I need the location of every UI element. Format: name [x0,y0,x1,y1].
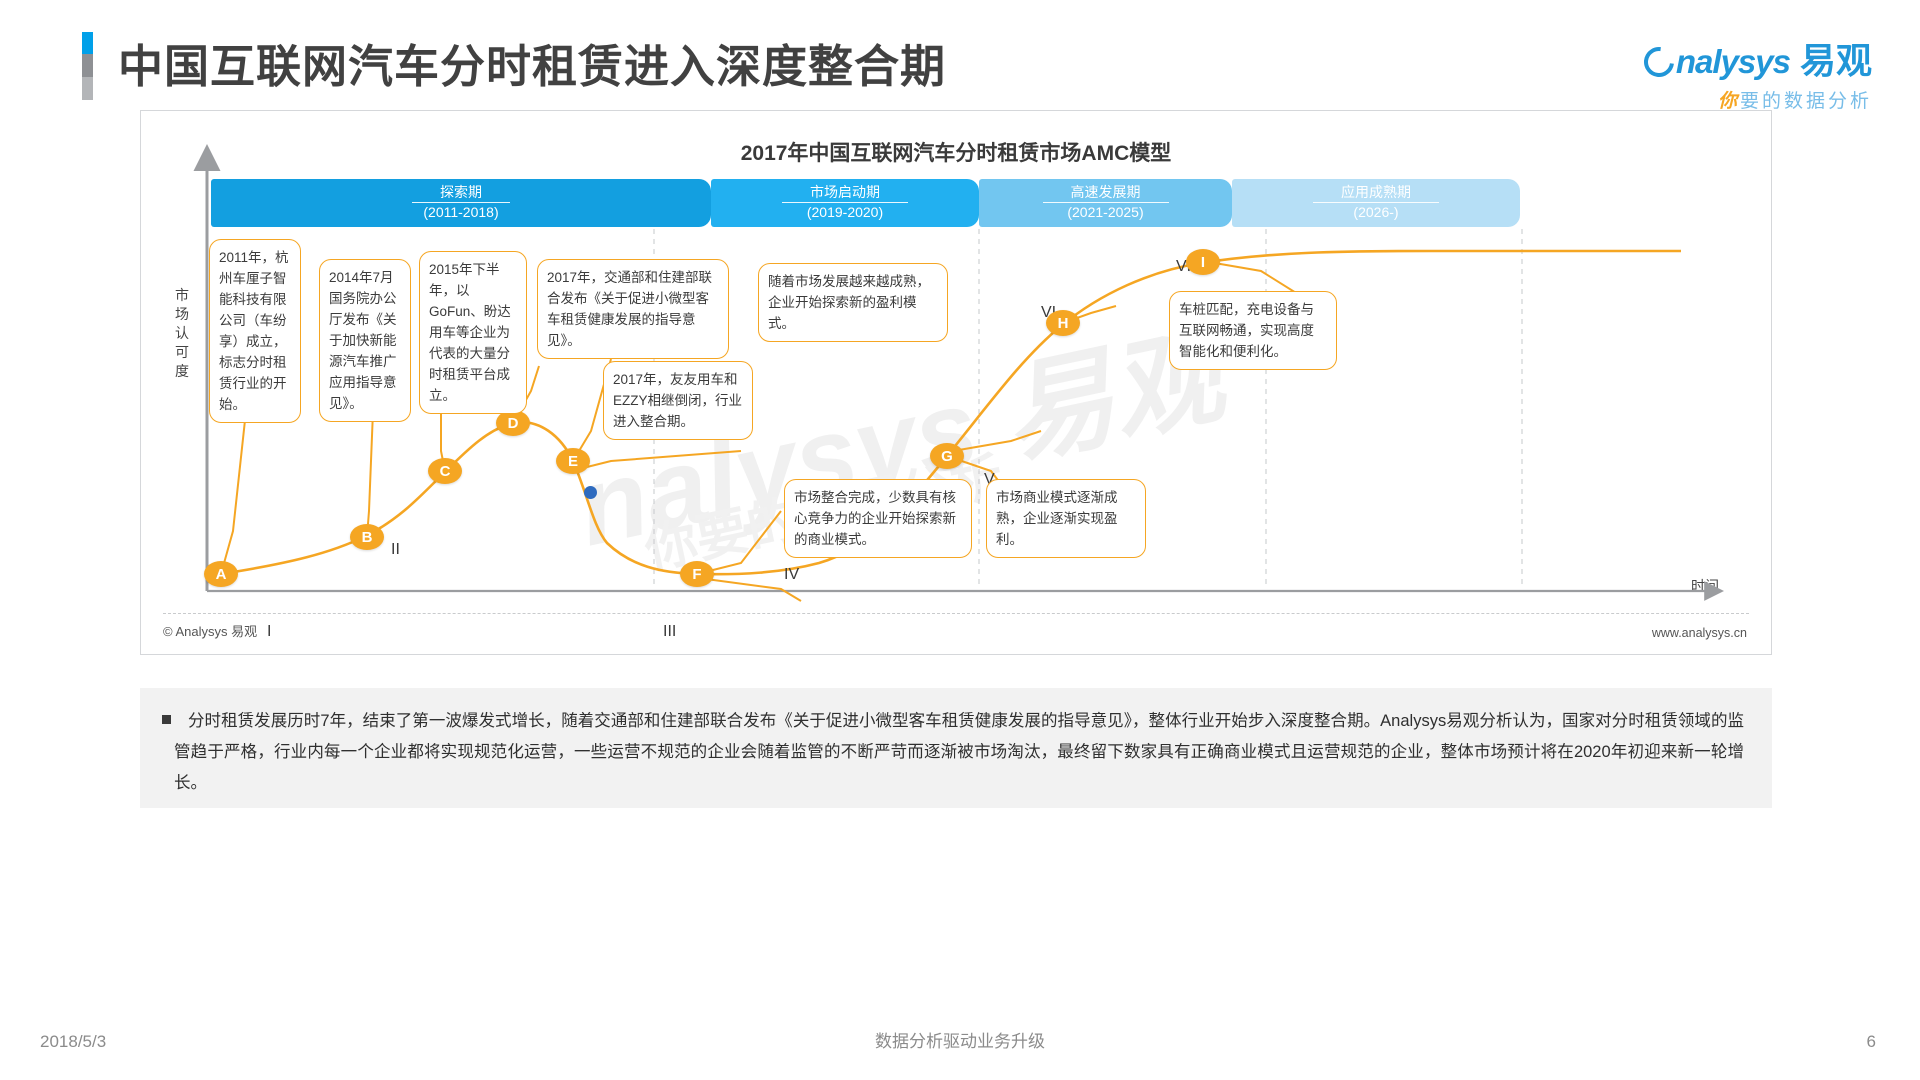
node-E[interactable]: E [556,448,590,474]
segment-label-III: III [663,623,676,641]
footer-center-text: 数据分析驱动业务升级 [0,1027,1920,1052]
logo-tagline-rest: 要的数据分析 [1740,91,1872,112]
logo-tagline: 你要的数据分析 [1644,86,1872,113]
callout-I: 车桩匹配，充电设备与互联网畅通，实现高度智能化和便利化。 [1169,291,1337,370]
page-title: 中国互联网汽车分时租赁进入深度整合期 [118,30,946,95]
logo-circle-icon [1638,41,1680,83]
summary-box: 分时租赁发展历时7年，结束了第一波爆发式增长，随着交通部和住建部联合发布《关于促… [140,688,1772,808]
callout-D: 2017年，交通部和住建部联合发布《关于促进小微型客车租赁健康发展的指导意见》。 [537,259,729,359]
callout-E: 2017年，友友用车和EZZY相继倒闭，行业进入整合期。 [603,361,753,440]
node-F[interactable]: F [680,561,714,587]
analysys-logo: nalysys 易观 你要的数据分析 [1644,32,1872,113]
callout-H: 随着市场发展越来越成熟，企业开始探索新的盈利模式。 [758,263,948,342]
segment-label-II: II [391,541,400,559]
segment-label-IV: IV [784,566,799,584]
footer-page-number: 6 [1867,1032,1876,1052]
summary-text: 分时租赁发展历时7年，结束了第一波爆发式增长，随着交通部和住建部联合发布《关于促… [174,706,1744,799]
logo-english: nalysys [1676,43,1790,81]
node-I[interactable]: I [1186,249,1220,275]
node-B[interactable]: B [350,524,384,550]
segment-label-I: I [267,623,271,641]
summary-bullet-icon [162,715,171,724]
callout-F: 市场整合完成，少数具有核心竞争力的企业开始探索新的商业模式。 [784,479,972,558]
callout-A: 2011年，杭州车厘子智能科技有限公司（车纷享）成立，标志分时租赁行业的开始。 [209,239,301,423]
chart-panel: 2017年中国互联网汽车分时租赁市场AMC模型 nalysys 易观 你要的数据… [140,110,1772,655]
node-C[interactable]: C [428,458,462,484]
logo-chinese: 易观 [1800,32,1872,84]
callout-G: 市场商业模式逐渐成熟，企业逐渐实现盈利。 [986,479,1146,558]
callout-C: 2015年下半年，以GoFun、盼达用车等企业为代表的大量分时租赁平台成立。 [419,251,527,414]
current-position-dot [584,486,597,499]
node-H[interactable]: H [1046,310,1080,336]
node-A[interactable]: A [204,561,238,587]
node-G[interactable]: G [930,443,964,469]
callout-B: 2014年7月 国务院办公厅发布《关于加快新能源汽车推广应用指导意见》。 [319,259,411,422]
slide-root: 中国互联网汽车分时租赁进入深度整合期 nalysys 易观 你要的数据分析 20… [0,0,1920,1080]
title-accent-bar [82,32,93,100]
logo-tagline-first: 你 [1718,91,1740,112]
